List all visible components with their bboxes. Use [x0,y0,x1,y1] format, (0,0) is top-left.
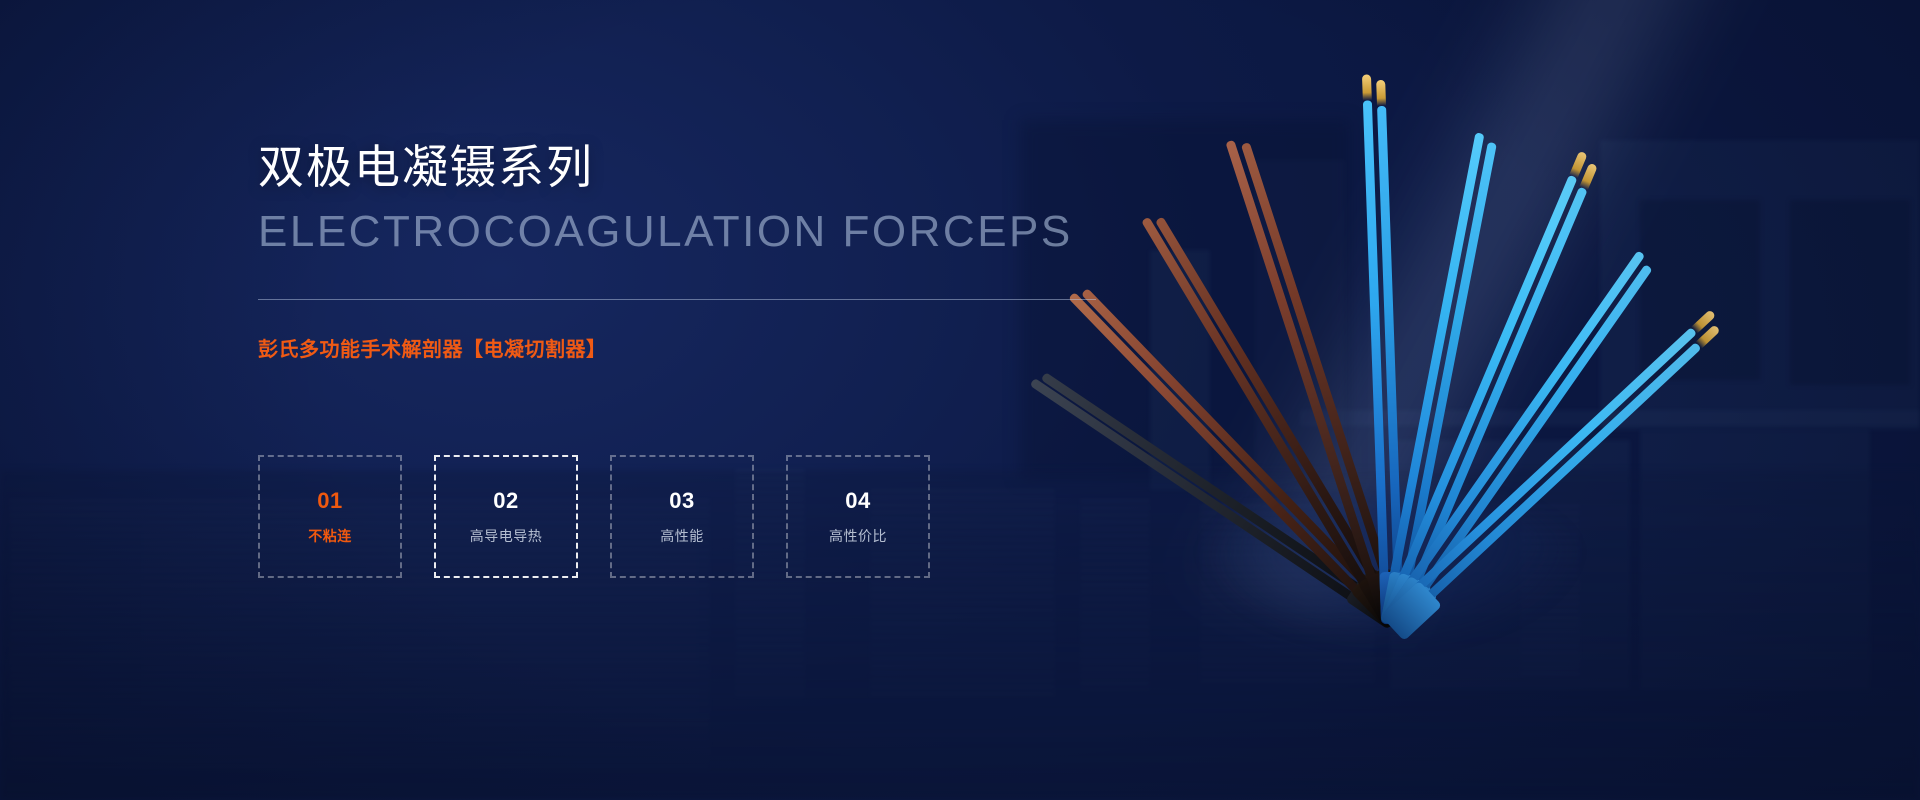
feature-item-04[interactable]: 04 高性价比 [786,455,930,578]
feature-label: 高性价比 [829,529,887,543]
feature-item-02[interactable]: 02 高导电导热 [434,455,578,578]
product-banner: 双极电凝镊系列 ELECTROCOAGULATION FORCEPS 彭氏多功能… [0,0,1920,800]
feature-number: 03 [669,490,694,512]
feature-label: 高导电导热 [470,529,543,543]
feature-list: 01 不粘连 02 高导电导热 03 高性能 04 高性价比 [258,455,930,578]
feature-number: 01 [317,490,342,512]
page-title: 双极电凝镊系列 [258,144,594,190]
feature-number: 02 [493,490,518,512]
feature-item-03[interactable]: 03 高性能 [610,455,754,578]
page-subtitle-en: ELECTROCOAGULATION FORCEPS [258,210,1073,254]
product-tagline: 彭氏多功能手术解剖器【电凝切割器】 [258,340,607,360]
divider [258,299,1096,300]
feature-item-01[interactable]: 01 不粘连 [258,455,402,578]
feature-label: 不粘连 [308,529,352,543]
banner-content: 双极电凝镊系列 ELECTROCOAGULATION FORCEPS 彭氏多功能… [0,0,1200,800]
feature-label: 高性能 [660,529,704,543]
feature-number: 04 [845,490,870,512]
